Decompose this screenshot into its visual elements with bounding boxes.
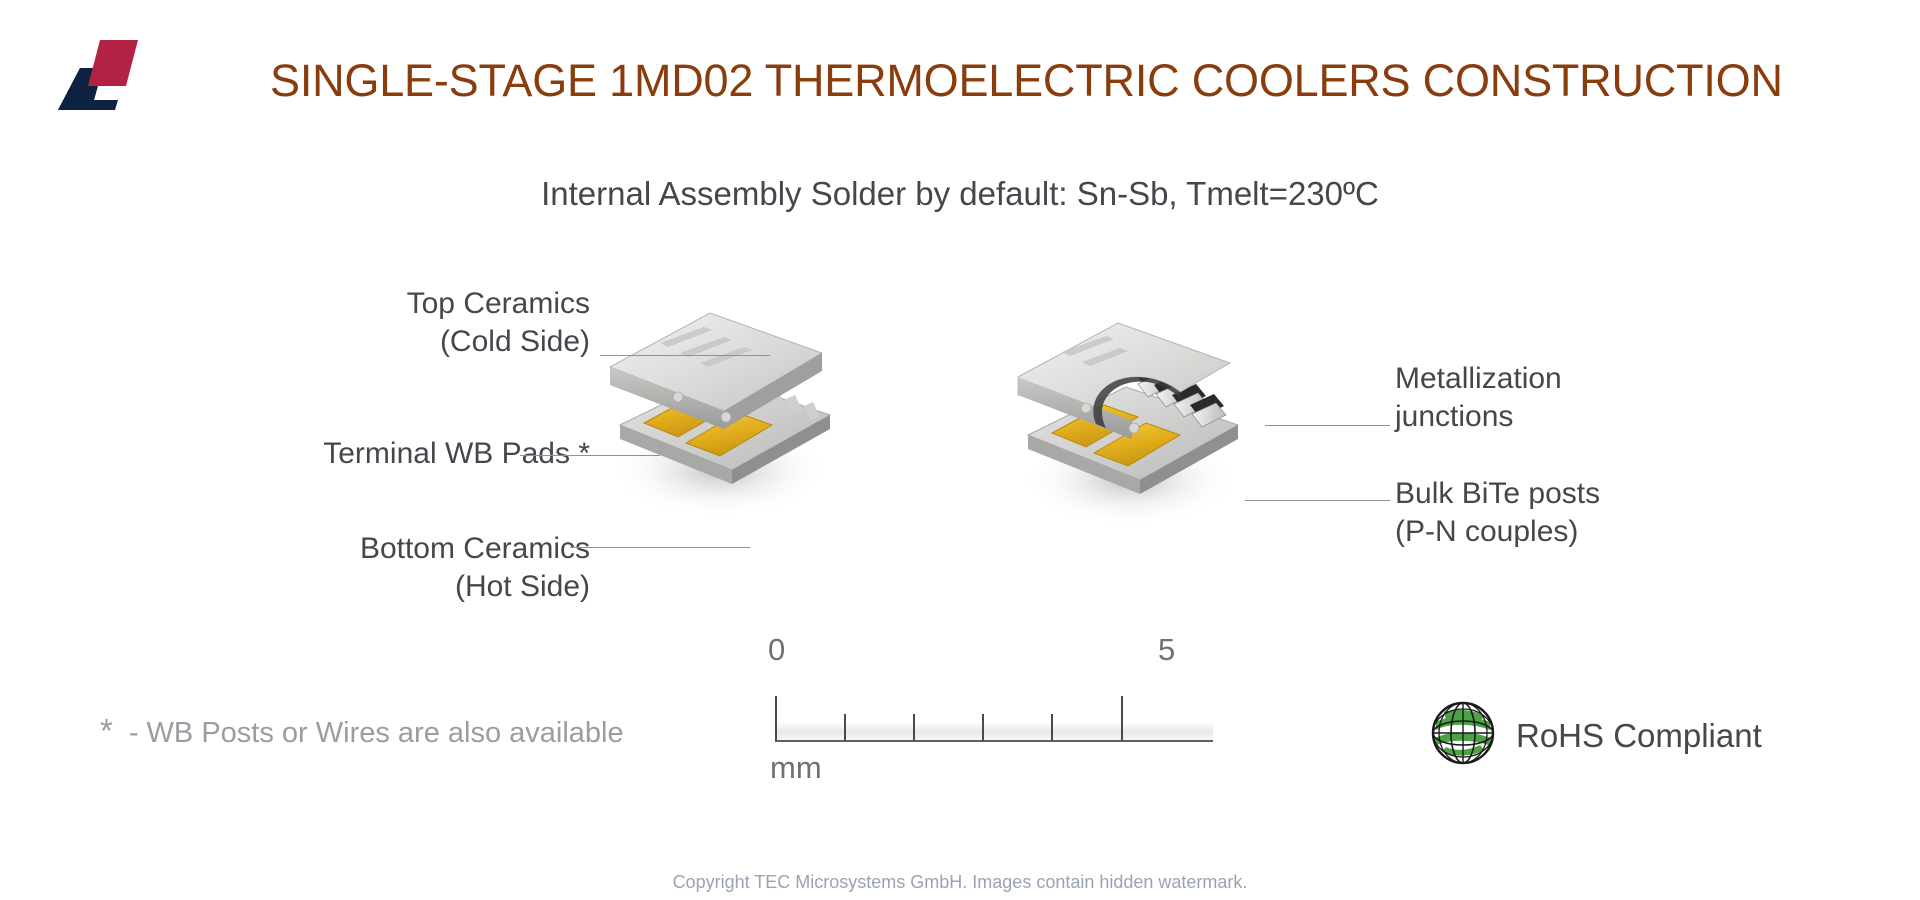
callout-top-ceramics: Top Ceramics (Cold Side) <box>190 285 590 362</box>
page-title: SINGLE-STAGE 1MD02 THERMOELECTRIC COOLER… <box>270 55 1670 107</box>
footnote-text: - WB Posts or Wires are also available <box>129 717 624 749</box>
callout-bottom-ceramics-line1: Bottom Ceramics <box>190 530 590 568</box>
callout-bulk-posts-line2: (P-N couples) <box>1395 513 1815 551</box>
callout-bulk-posts: Bulk BiTe posts (P-N couples) <box>1395 475 1815 552</box>
tec-microsystems-logo <box>58 40 154 110</box>
callout-bottom-ceramics-line2: (Hot Side) <box>190 568 590 606</box>
scale-unit-label: mm <box>770 750 822 786</box>
footnote: *- WB Posts or Wires are also available <box>100 712 624 750</box>
callout-metallization-line1: Metallization <box>1395 360 1815 398</box>
leader-line-metallization <box>1265 425 1390 426</box>
leader-line-terminal-pads <box>520 455 660 456</box>
callout-metallization-line2: junctions <box>1395 398 1815 436</box>
footnote-asterisk: * <box>100 712 113 749</box>
leader-line-top-ceramics <box>600 355 770 356</box>
scale-ruler <box>775 690 1215 745</box>
slide-root: SINGLE-STAGE 1MD02 THERMOELECTRIC COOLER… <box>0 0 1920 900</box>
subtitle: Internal Assembly Solder by default: Sn-… <box>0 175 1920 213</box>
leader-line-bottom-ceramics <box>570 547 750 548</box>
scale-label-end: 5 <box>1158 632 1175 668</box>
callout-bulk-posts-line1: Bulk BiTe posts <box>1395 475 1815 513</box>
tec-render-right-cutaway <box>1010 280 1330 580</box>
leader-line-bulk-posts <box>1245 500 1390 501</box>
callout-top-ceramics-line1: Top Ceramics <box>190 285 590 323</box>
rohs-label: RoHS Compliant <box>1516 717 1762 755</box>
callout-top-ceramics-line2: (Cold Side) <box>190 323 590 361</box>
globe-icon <box>1430 700 1496 771</box>
tec-render-left <box>600 265 920 565</box>
scale-label-start: 0 <box>768 632 785 668</box>
callout-bottom-ceramics: Bottom Ceramics (Hot Side) <box>190 530 590 607</box>
callout-metallization: Metallization junctions <box>1395 360 1815 437</box>
copyright-notice: Copyright TEC Microsystems GmbH. Images … <box>0 872 1920 893</box>
rohs-badge: RoHS Compliant <box>1430 700 1762 771</box>
